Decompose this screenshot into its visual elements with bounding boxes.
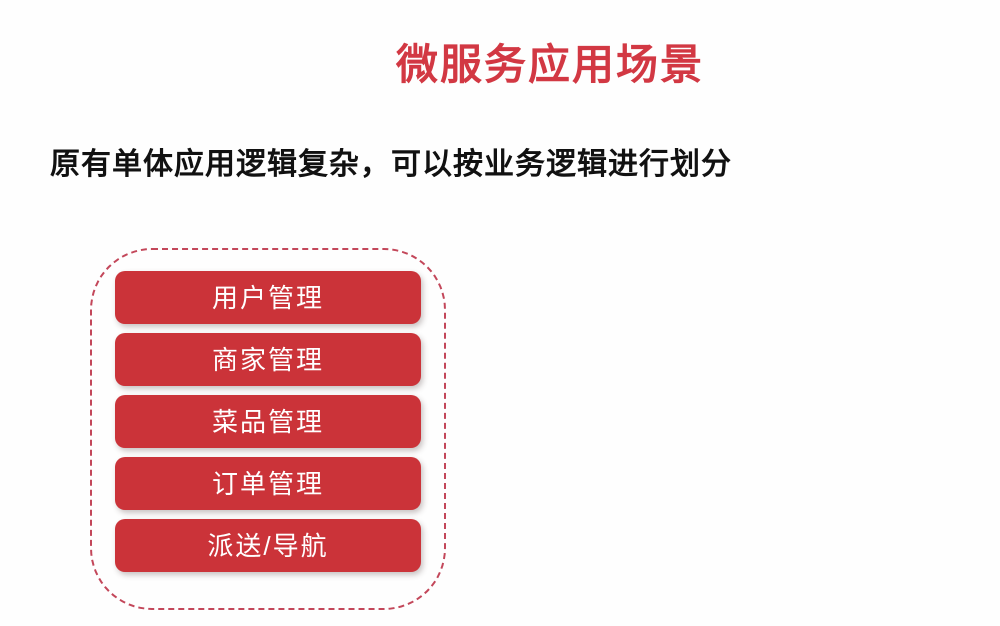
slide-canvas: 微服务应用场景 原有单体应用逻辑复杂，可以按业务逻辑进行划分 用户管理 商家管理… — [0, 0, 1000, 626]
module-label: 订单管理 — [212, 471, 324, 497]
module-box-order-management[interactable]: 订单管理 — [115, 457, 421, 510]
module-box-merchant-management[interactable]: 商家管理 — [115, 333, 421, 386]
module-box-delivery-navigation[interactable]: 派送/导航 — [115, 519, 421, 572]
slide-subtitle: 原有单体应用逻辑复杂，可以按业务逻辑进行划分 — [50, 147, 732, 183]
module-label: 用户管理 — [212, 285, 324, 311]
page-title: 微服务应用场景 — [0, 41, 1000, 89]
module-label: 菜品管理 — [212, 409, 324, 435]
module-label: 商家管理 — [212, 347, 324, 373]
module-list: 用户管理 商家管理 菜品管理 订单管理 派送/导航 — [115, 271, 421, 572]
module-box-user-management[interactable]: 用户管理 — [115, 271, 421, 324]
module-box-dish-management[interactable]: 菜品管理 — [115, 395, 421, 448]
module-label: 派送/导航 — [207, 533, 328, 559]
